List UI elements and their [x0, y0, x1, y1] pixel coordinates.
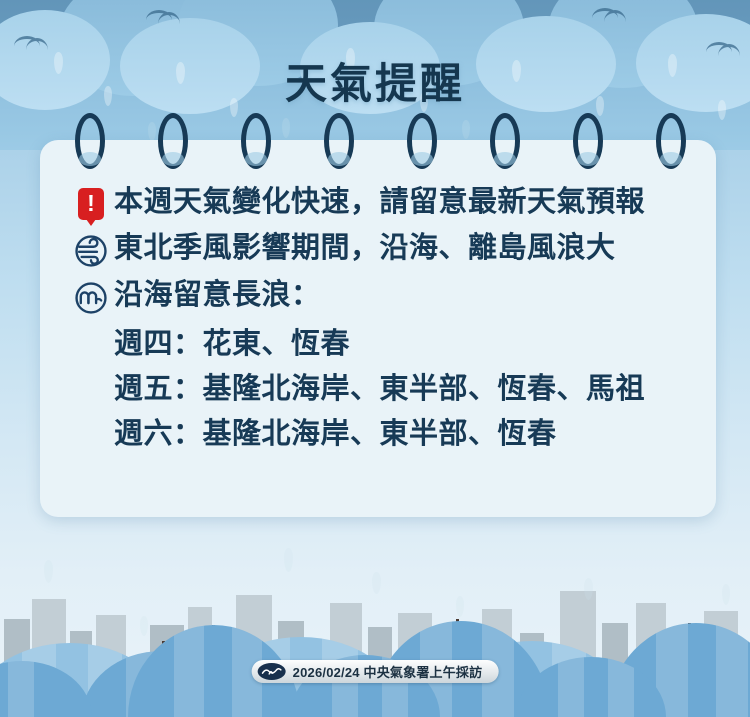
advisory-bullet-3-text: 沿海留意長浪： [114, 277, 321, 314]
ring-hole [411, 152, 433, 166]
wind-circle-icon-svg [74, 234, 108, 268]
advisory-bullet-2: 東北季風影響期間，沿海、離島風浪大 [68, 230, 698, 268]
wind-circle-icon [68, 230, 114, 268]
advisory-card: ! 本週天氣變化快速，請留意最新天氣預報 東北季風影響期間，沿海、離島風浪大 [40, 140, 716, 517]
swell-day-saturday: 週六：基隆北海岸、東半部、恆春 [68, 414, 698, 455]
swell-day-saturday-text: 週六：基隆北海岸、東半部、恆春 [114, 414, 698, 455]
advisory-bullet-1-text: 本週天氣變化快速，請留意最新天氣預報 [114, 184, 645, 221]
alert-exclamation-icon: ! [68, 184, 114, 220]
cwa-wave-logo-icon [258, 663, 286, 680]
wave-circle-icon [68, 277, 114, 315]
swell-day-friday-text: 週五：基隆北海岸、東半部、恆春、馬祖 [114, 369, 698, 410]
raindrop [284, 548, 293, 572]
swell-day-thursday: 週四：花東、恆春 [68, 324, 698, 365]
ring-hole [162, 152, 184, 166]
raindrop [372, 572, 381, 594]
raindrop [456, 596, 464, 617]
cwa-wave-logo-svg [262, 666, 282, 677]
raindrop [584, 578, 593, 600]
source-footer-text: 2026/02/24 中央氣象署上午採訪 [293, 662, 483, 681]
advisory-bullet-2-text: 東北季風影響期間，沿海、離島風浪大 [114, 230, 616, 267]
source-footer-pill: 2026/02/24 中央氣象署上午採訪 [252, 660, 499, 683]
advisory-bullet-1: ! 本週天氣變化快速，請留意最新天氣預報 [68, 184, 698, 221]
ring-hole [245, 152, 267, 166]
notebook-binder-rings [0, 0, 750, 180]
swell-day-thursday-text: 週四：花東、恆春 [114, 324, 698, 365]
weather-advisory-poster: 天氣提醒 ! 本週天氣變化快速，請留意最新天氣預報 東北季 [0, 0, 750, 717]
swell-day-friday: 週五：基隆北海岸、東半部、恆春、馬祖 [68, 369, 698, 410]
ring-hole [328, 152, 350, 166]
ring-hole [660, 152, 682, 166]
ring-hole [577, 152, 599, 166]
ring-hole [79, 152, 101, 166]
advisory-bullet-3: 沿海留意長浪： [68, 277, 698, 315]
raindrop [140, 616, 148, 636]
wave-circle-icon-svg [74, 281, 108, 315]
raindrop [44, 560, 53, 583]
raindrop [722, 584, 730, 605]
ring-hole [494, 152, 516, 166]
